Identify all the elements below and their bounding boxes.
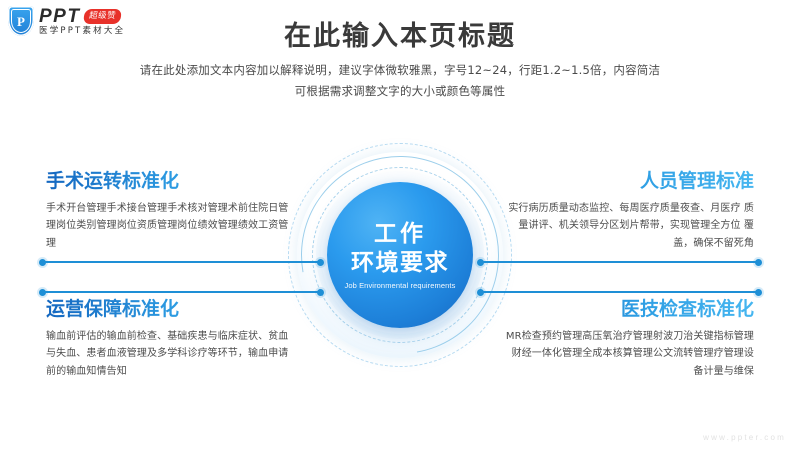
- connector-dot-top-right-inner: [477, 259, 484, 266]
- center-diagram: 工作 环境要求 Job Environmental requirements: [285, 140, 515, 370]
- block-heading-operation-support: 运营保障标准化: [46, 298, 296, 321]
- block-body-personnel-management: 实行病历质量动态监控、每周医疗质量夜查、月医疗 质量讲评、机关领导分区划片帮带，…: [504, 200, 754, 253]
- content-block-medical-inspection[interactable]: 医技检查标准化 MR检查预约管理高压氧治疗管理射波刀治关键指标管理财经一体化管理…: [504, 298, 754, 380]
- connector-line-top-right: [480, 261, 758, 263]
- connector-dot-top-left-inner: [317, 259, 324, 266]
- shield-letter: P: [17, 15, 25, 28]
- content-block-operation-support[interactable]: 运营保障标准化 输血前评估的输血前检查、基础疾患与临床症状、贫血与失血、患者血液…: [46, 298, 296, 380]
- block-heading-surgery-operation: 手术运转标准化: [46, 170, 296, 193]
- content-block-personnel-management[interactable]: 人员管理标准 实行病历质量动态监控、每周医疗质量夜查、月医疗 质量讲评、机关领导…: [504, 170, 754, 252]
- page-subtitle: 请在此处添加文本内容加以解释说明，建议字体微软雅黑，字号12~24，行距1.2~…: [0, 60, 800, 103]
- content-block-surgery-operation[interactable]: 手术运转标准化 手术开台管理手术接台管理手术核对管理术前住院日管理岗位类别管理岗…: [46, 170, 296, 252]
- connector-dot-bottom-right-outer: [755, 289, 762, 296]
- block-body-medical-inspection: MR检查预约管理高压氧治疗管理射波刀治关键指标管理财经一体化管理全成本核算管理公…: [504, 328, 754, 381]
- connector-line-bottom-left: [42, 291, 320, 293]
- connector-dot-top-left-outer: [39, 259, 46, 266]
- center-core-english: Job Environmental requirements: [345, 281, 456, 290]
- connector-dot-top-right-outer: [755, 259, 762, 266]
- connector-dot-bottom-right-inner: [477, 289, 484, 296]
- center-core-line1: 工作: [374, 220, 426, 249]
- page-subtitle-line1: 请在此处添加文本内容加以解释说明，建议字体微软雅黑，字号12~24，行距1.2~…: [140, 63, 660, 77]
- block-heading-personnel-management: 人员管理标准: [504, 170, 754, 193]
- center-core-line2: 环境要求: [351, 249, 449, 278]
- block-body-surgery-operation: 手术开台管理手术接台管理手术核对管理术前住院日管理岗位类别管理岗位资质管理岗位绩…: [46, 200, 296, 253]
- connector-line-top-left: [42, 261, 320, 263]
- connector-dot-bottom-left-outer: [39, 289, 46, 296]
- block-body-operation-support: 输血前评估的输血前检查、基础疾患与临床症状、贫血与失血、患者血液管理及多学科诊疗…: [46, 328, 296, 381]
- center-core-circle[interactable]: 工作 环境要求 Job Environmental requirements: [327, 182, 473, 328]
- slide-canvas: P PPT 超级赞 医学PPT素材大全 在此输入本页标题 请在此处添加文本内容加…: [0, 0, 800, 450]
- block-heading-medical-inspection: 医技检查标准化: [504, 298, 754, 321]
- connector-line-bottom-right: [480, 291, 758, 293]
- footer-watermark: www.ppter.com: [703, 433, 786, 442]
- page-subtitle-line2: 可根据需求调整文字的大小或颜色等属性: [0, 81, 800, 102]
- connector-dot-bottom-left-inner: [317, 289, 324, 296]
- page-title: 在此输入本页标题: [0, 14, 800, 53]
